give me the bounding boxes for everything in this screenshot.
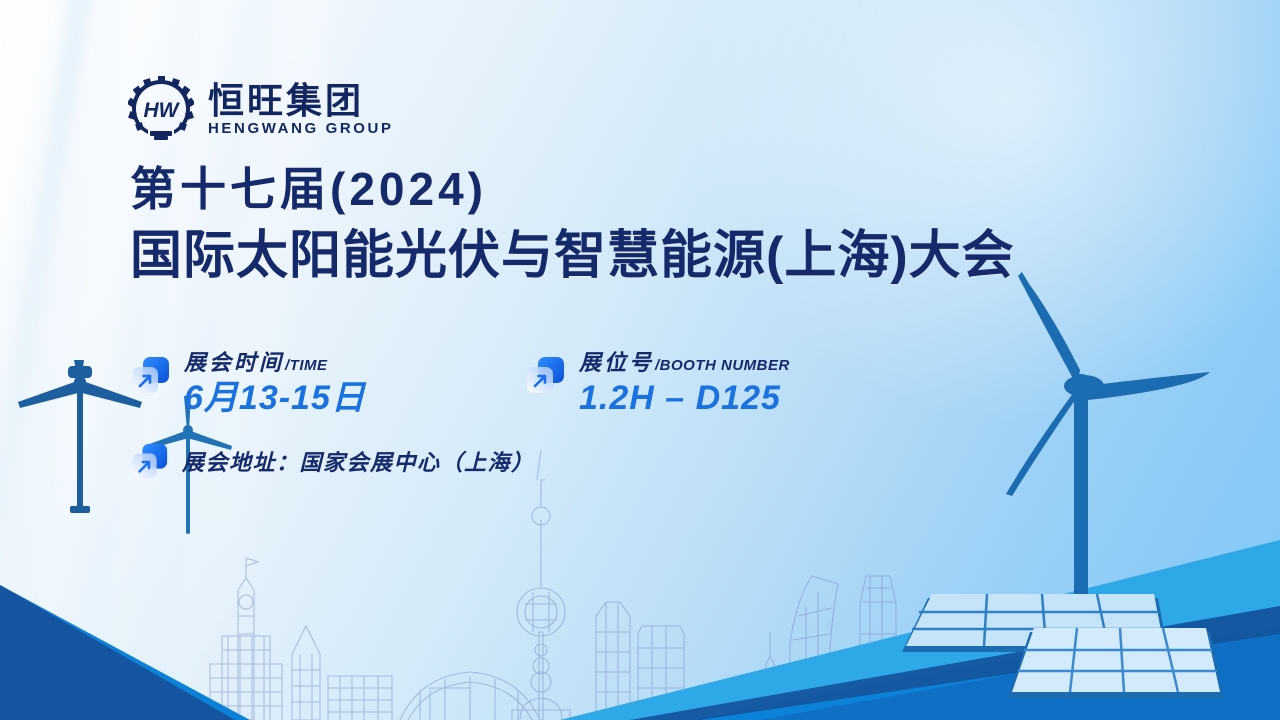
title-line-2: 国际太阳能光伏与智慧能源(上海)大会 (130, 223, 1015, 291)
title-line-1: 第十七届(2024) (130, 160, 1015, 219)
brand-name-en: HENGWANG GROUP (208, 121, 394, 136)
info-label-booth-en: /BOOTH NUMBER (655, 358, 790, 373)
renewable-energy-illustration (880, 260, 1280, 720)
brand-logo: HW 恒旺集团 HENGWANG GROUP (128, 76, 394, 142)
stacked-squares-arrow-icon (130, 354, 172, 396)
info-value-booth: 1.2H – D125 (579, 381, 790, 417)
page-title: 第十七届(2024) 国际太阳能光伏与智慧能源(上海)大会 (130, 160, 1015, 290)
brand-name-cn: 恒旺集团 (208, 83, 394, 119)
exhibition-banner: HW 恒旺集团 HENGWANG GROUP 第十七届(2024) 国际太阳能光… (0, 0, 1280, 720)
info-item-booth: 展位号 /BOOTH NUMBER 1.2H – D125 (525, 352, 925, 417)
info-value-time: 6月13-15日 (184, 381, 366, 417)
solar-panel-array-icon (902, 594, 1224, 698)
light-streak (0, 0, 66, 720)
event-info: 展会时间 /TIME 6月13-15日 (130, 352, 930, 481)
stacked-squares-arrow-icon (525, 354, 567, 396)
info-item-time: 展会时间 /TIME 6月13-15日 (130, 352, 525, 417)
info-label-booth-cn: 展位号 (579, 352, 654, 374)
stacked-squares-arrow-icon (130, 441, 170, 481)
info-value-address: 展会地址：国家会展中心（上海） (182, 445, 535, 477)
info-label-time-en: /TIME (285, 358, 328, 373)
svg-text:HW: HW (144, 99, 181, 122)
wind-turbine-icon (18, 360, 142, 513)
wind-turbine-icon (1006, 272, 1210, 598)
gear-hw-emblem-icon: HW (128, 76, 194, 142)
info-label-time-cn: 展会时间 (184, 352, 284, 374)
info-item-address: 展会地址：国家会展中心（上海） (130, 441, 930, 481)
light-streak (0, 0, 110, 720)
